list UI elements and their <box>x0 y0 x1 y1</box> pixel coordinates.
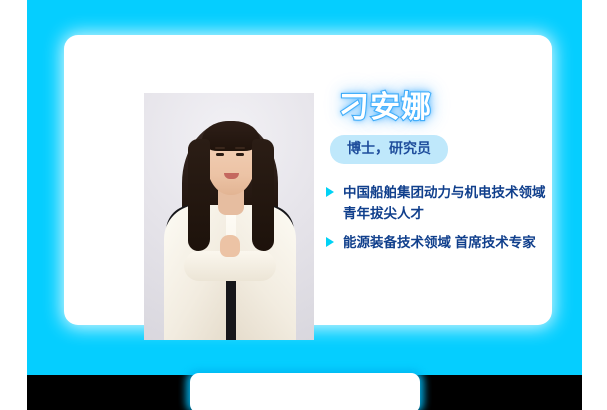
triangle-right-icon <box>326 237 334 247</box>
portrait-eyebrow-left <box>215 147 225 149</box>
title-badge: 博士，研究员 <box>330 135 448 164</box>
person-name: 刁安娜 <box>339 93 601 123</box>
list-item: 中国船舶集团动力与机电技术领域 青年拔尖人才 <box>326 182 601 226</box>
portrait-hand <box>220 235 240 257</box>
portrait-hair-front-right <box>252 139 274 251</box>
portrait-eye-right <box>236 153 244 156</box>
profile-info-column: 刁安娜 博士，研究员 中国船舶集团动力与机电技术领域 青年拔尖人才 能源装备技术… <box>326 93 601 261</box>
credential-line: 青年拔尖人才 <box>343 203 601 225</box>
credential-line: 能源装备技术领域 首席技术专家 <box>343 232 601 254</box>
bottom-bar[interactable] <box>190 373 420 410</box>
triangle-right-icon <box>326 187 334 197</box>
portrait-hair-front-left <box>188 139 210 251</box>
profile-card-stage: 刁安娜 博士，研究员 中国船舶集团动力与机电技术领域 青年拔尖人才 能源装备技术… <box>0 0 607 410</box>
portrait-eye-left <box>216 153 224 156</box>
portrait-photo <box>144 93 314 340</box>
portrait-eyebrow-right <box>235 147 245 149</box>
list-item: 能源装备技术领域 首席技术专家 <box>326 232 601 254</box>
credential-line: 中国船舶集团动力与机电技术领域 <box>343 182 601 204</box>
profile-white-card: 刁安娜 博士，研究员 中国船舶集团动力与机电技术领域 青年拔尖人才 能源装备技术… <box>64 35 552 325</box>
credentials-list: 中国船舶集团动力与机电技术领域 青年拔尖人才 能源装备技术领域 首席技术专家 <box>326 182 601 255</box>
